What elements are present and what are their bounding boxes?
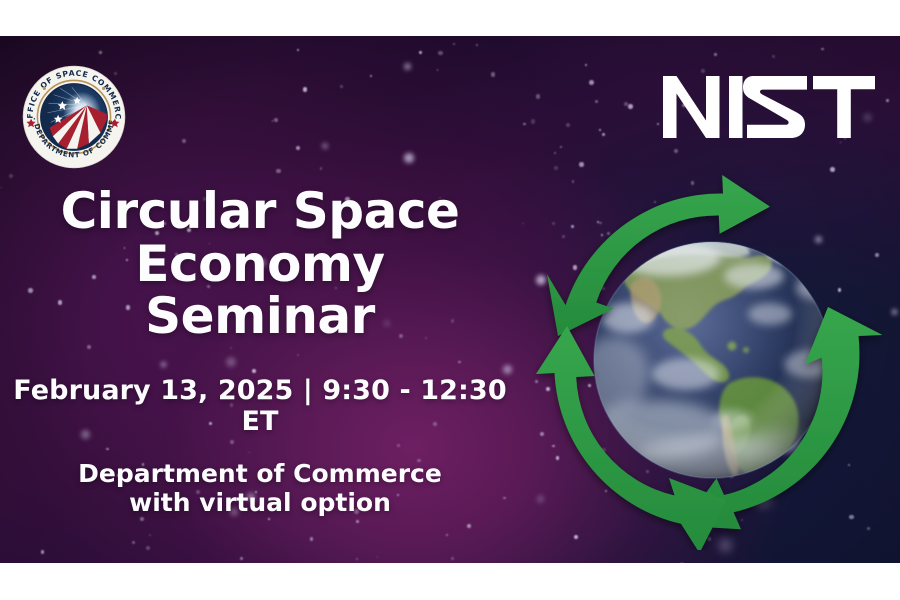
nist-logo: [663, 76, 875, 138]
event-date-time: February 13, 2025 | 9:30 - 12:30 ET: [0, 375, 520, 437]
title-line-2: Economy: [0, 238, 520, 291]
earth-with-recycling-arrows: [518, 168, 896, 550]
title-line-3: Seminar: [0, 290, 520, 343]
venue-line-1: Department of Commerce: [0, 459, 520, 489]
banner-text-block: Circular Space Economy Seminar February …: [0, 185, 520, 518]
bottom-white-band: [0, 563, 900, 600]
nist-wordmark-glyphs: [663, 76, 875, 138]
page-title: Circular Space Economy Seminar: [0, 185, 520, 343]
office-of-space-commerce-seal: OFFICE OF SPACE COMMERCE U.S. DEPARTMENT…: [21, 64, 127, 170]
top-white-band: [0, 0, 900, 36]
title-line-1: Circular Space: [0, 185, 520, 238]
seminar-banner: Circular Space Economy Seminar February …: [0, 0, 900, 600]
venue-line-2: with virtual option: [0, 488, 520, 518]
event-venue: Department of Commerce with virtual opti…: [0, 459, 520, 518]
